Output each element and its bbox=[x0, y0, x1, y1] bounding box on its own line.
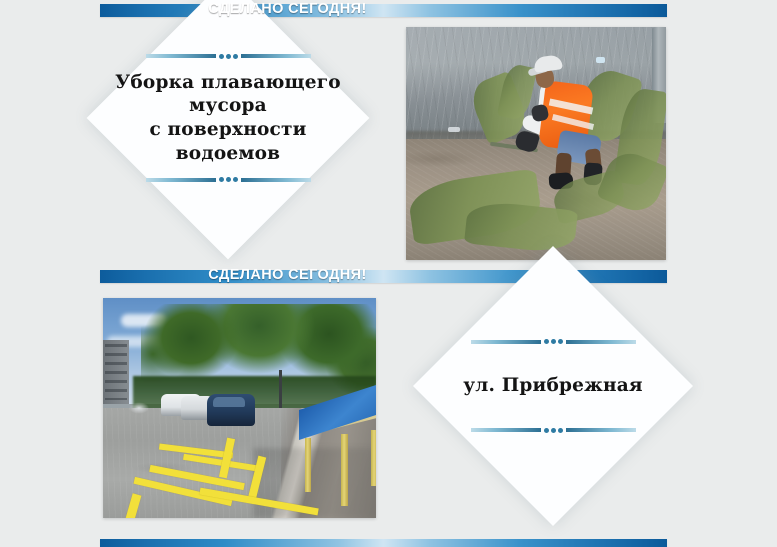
divider-bar-left bbox=[146, 54, 216, 58]
divider-bar-right bbox=[241, 178, 311, 182]
card-text-bottom-right: ул. Прибрежная bbox=[463, 374, 643, 398]
divider-bar-right bbox=[566, 428, 636, 432]
banner-bar-bottom bbox=[100, 539, 667, 547]
divider-dots-icon-bottom bbox=[465, 426, 641, 435]
divider-dots-icon-top bbox=[140, 52, 316, 61]
divider-dots-icon-top bbox=[465, 337, 641, 346]
diamond-content: ул. Прибрежная bbox=[408, 287, 698, 485]
photo-floating-debris bbox=[448, 127, 460, 132]
divider-dots bbox=[219, 177, 238, 182]
divider-bar-right bbox=[566, 340, 636, 344]
card-text-top-left: Уборка плавающего мусора с поверхности в… bbox=[115, 71, 341, 166]
diamond-card-top-left: Уборка плавающего мусора с поверхности в… bbox=[128, 18, 328, 218]
photo-shelter-post bbox=[371, 430, 376, 486]
photo-floating-debris bbox=[596, 57, 605, 63]
divider-dots bbox=[544, 339, 563, 344]
photo-shelter-post bbox=[305, 438, 311, 492]
photo-shelter-post bbox=[341, 434, 348, 506]
divider-bar-left bbox=[146, 178, 216, 182]
divider-bar-right bbox=[241, 54, 311, 58]
diamond-card-bottom-right: ул. Прибрежная bbox=[454, 287, 652, 485]
slide-canvas: СДЕЛАНО СЕГОДНЯ! Уборка плавающего мусор… bbox=[0, 0, 777, 547]
diamond-content: Уборка плавающего мусора с поверхности в… bbox=[83, 18, 373, 218]
divider-bar-left bbox=[471, 340, 541, 344]
divider-dots bbox=[544, 428, 563, 433]
divider-dots bbox=[219, 54, 238, 59]
divider-dots-icon-bottom bbox=[140, 175, 316, 184]
photo-car-window bbox=[213, 397, 245, 407]
photo-water-cleanup bbox=[406, 27, 666, 260]
banner-bar-top bbox=[100, 4, 667, 17]
photo-street-marking bbox=[103, 298, 376, 518]
divider-bar-left bbox=[471, 428, 541, 432]
